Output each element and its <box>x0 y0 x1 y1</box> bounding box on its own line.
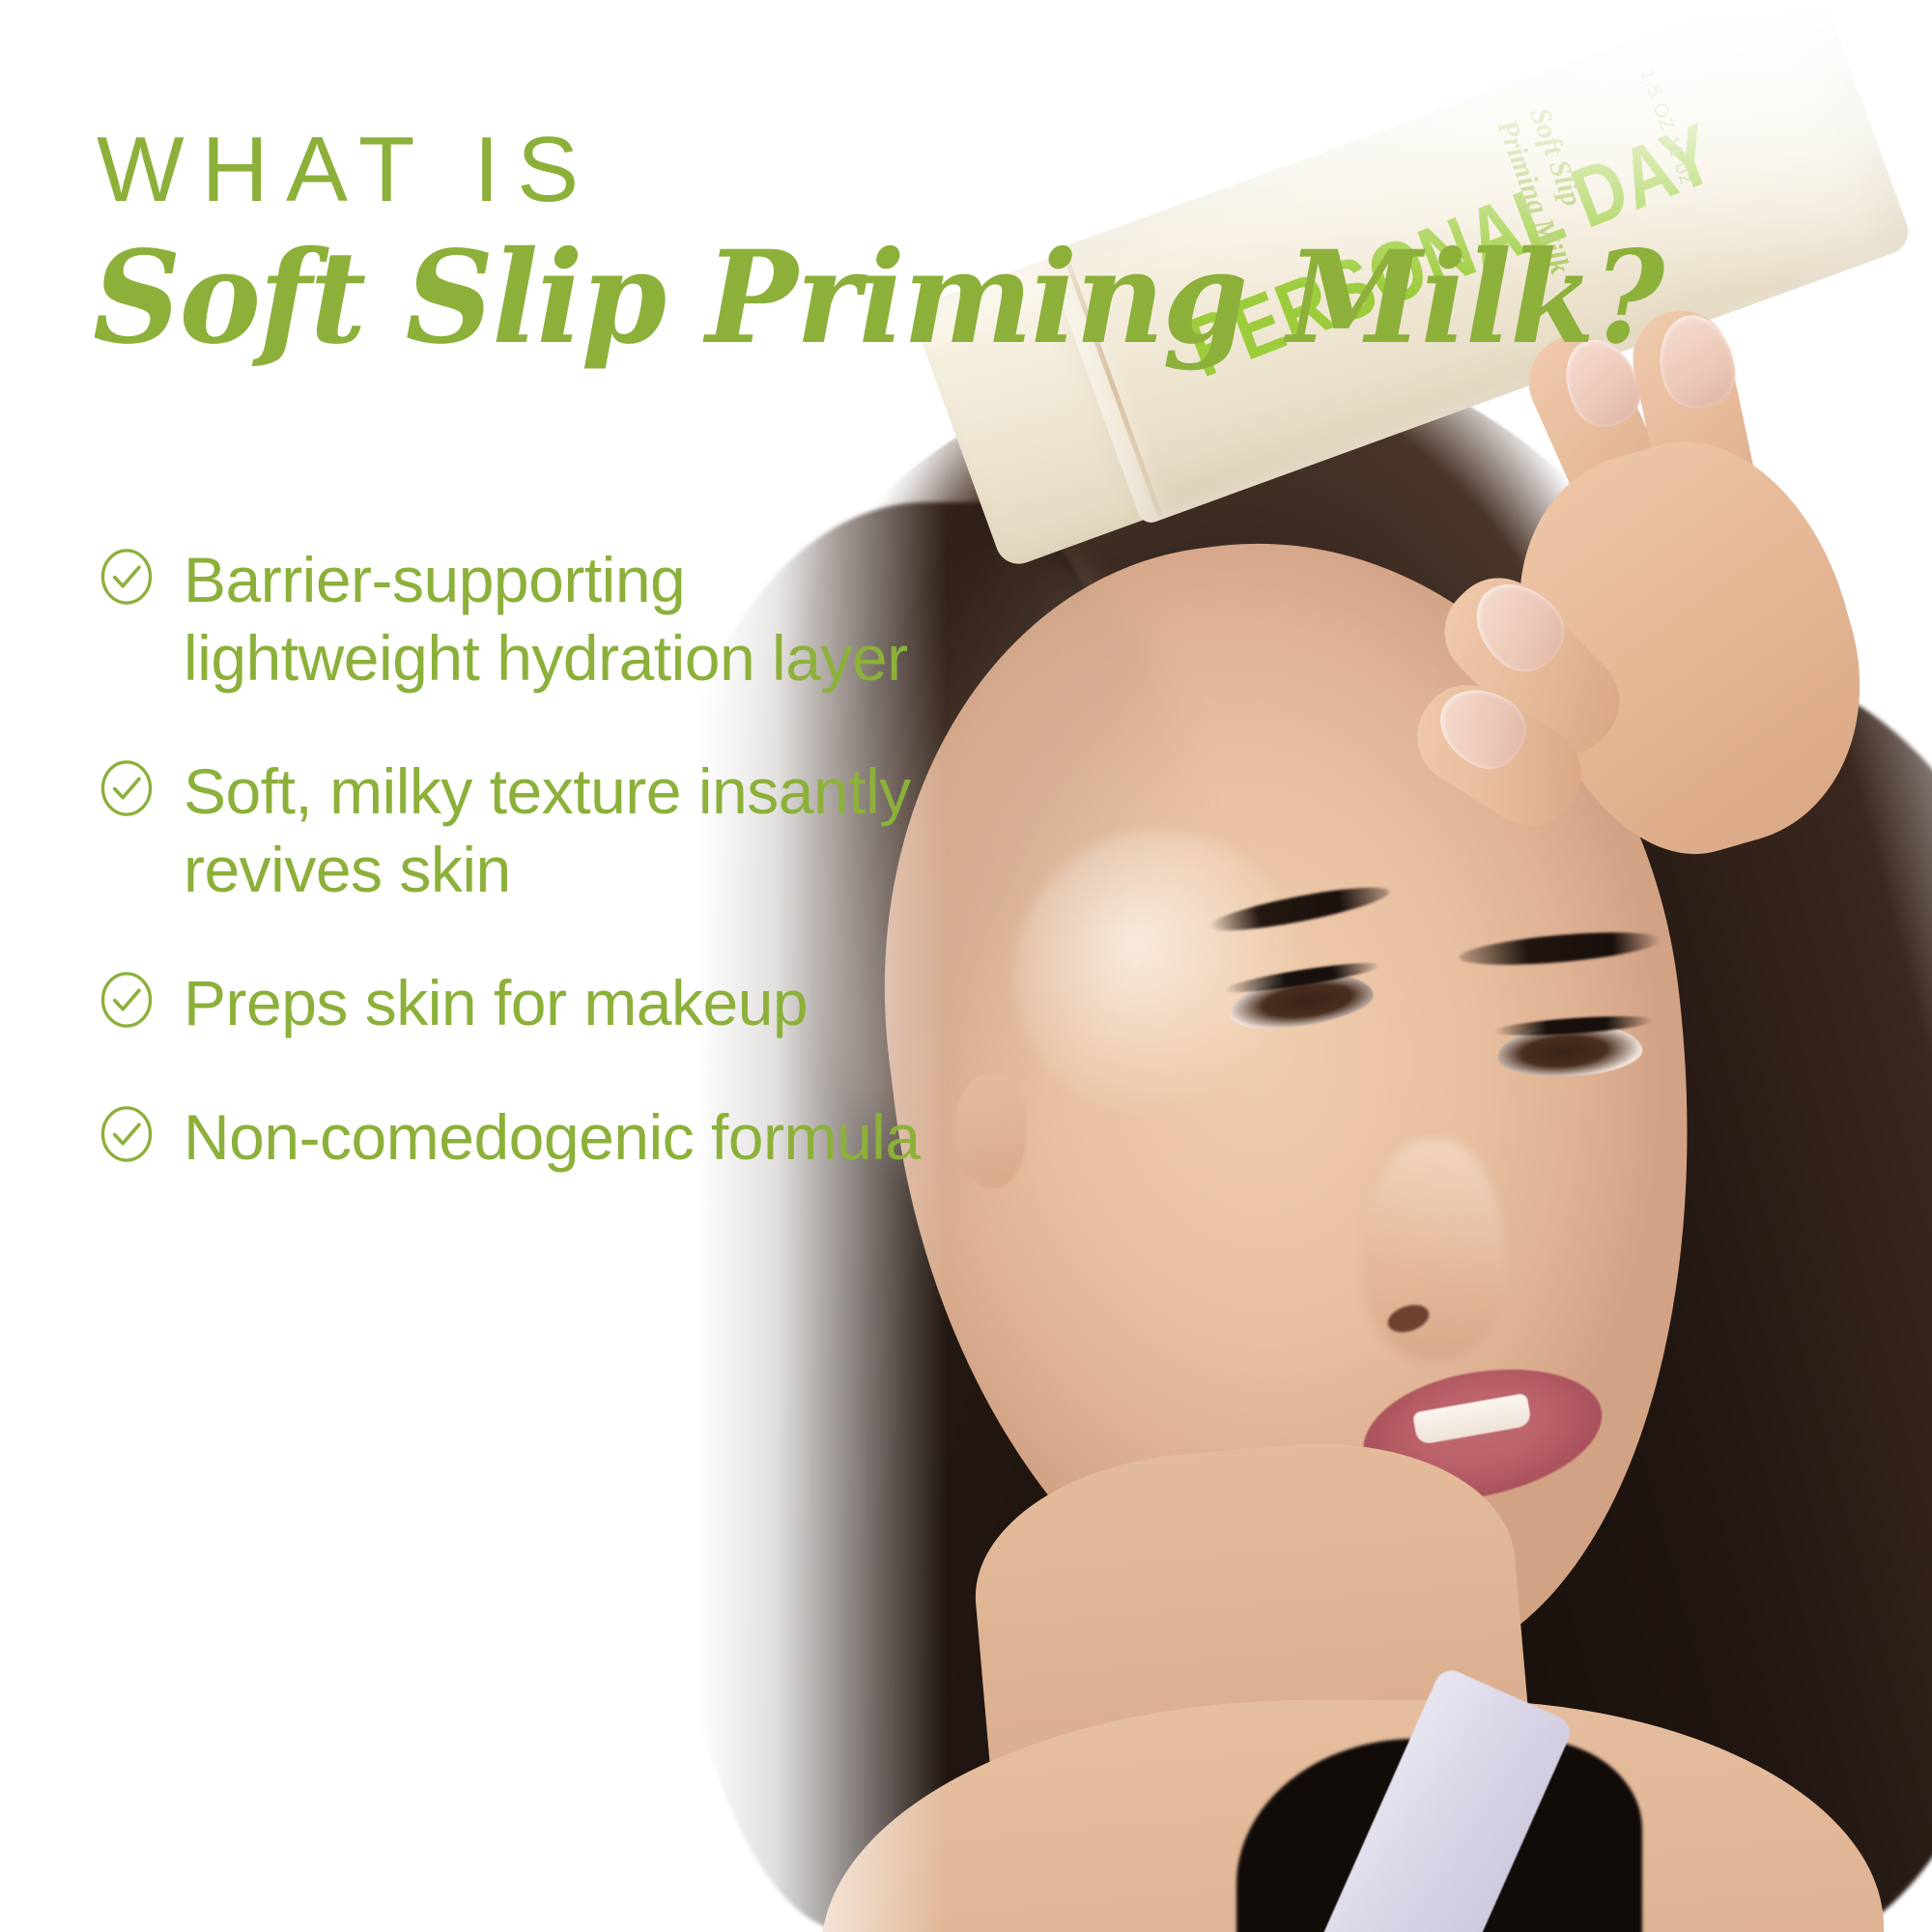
check-circle-icon <box>97 970 156 1030</box>
benefit-item-2: Soft, milky texture insantly revives ski… <box>97 753 927 908</box>
benefit-text: Preps skin for makeup <box>184 964 808 1042</box>
benefit-text: Barrier-supporting lightweight hydration… <box>184 541 927 696</box>
benefit-text: Soft, milky texture insantly revives ski… <box>184 753 927 908</box>
check-circle-icon <box>97 758 156 818</box>
marketing-canvas: PERSONAL DAY Soft SlipPriming Milk 1.5 O… <box>0 0 1932 1932</box>
benefit-item-1: Barrier-supporting lightweight hydration… <box>97 541 927 696</box>
copy-column: WHAT IS Soft Slip Priming Milk? Barrier-… <box>0 0 966 1932</box>
benefit-text: Non-comedogenic formula <box>184 1098 921 1177</box>
check-circle-icon <box>97 1104 156 1164</box>
model-nose <box>1362 1140 1507 1362</box>
benefits-list: Barrier-supporting lightweight hydration… <box>97 541 927 1176</box>
page-title: Soft Slip Priming Milk? <box>93 230 1662 368</box>
eyebrow-label: WHAT IS <box>97 124 596 216</box>
benefit-item-3: Preps skin for makeup <box>97 964 927 1042</box>
benefit-item-4: Non-comedogenic formula <box>97 1098 927 1177</box>
check-circle-icon <box>97 547 156 607</box>
model-hand <box>1362 290 1932 889</box>
